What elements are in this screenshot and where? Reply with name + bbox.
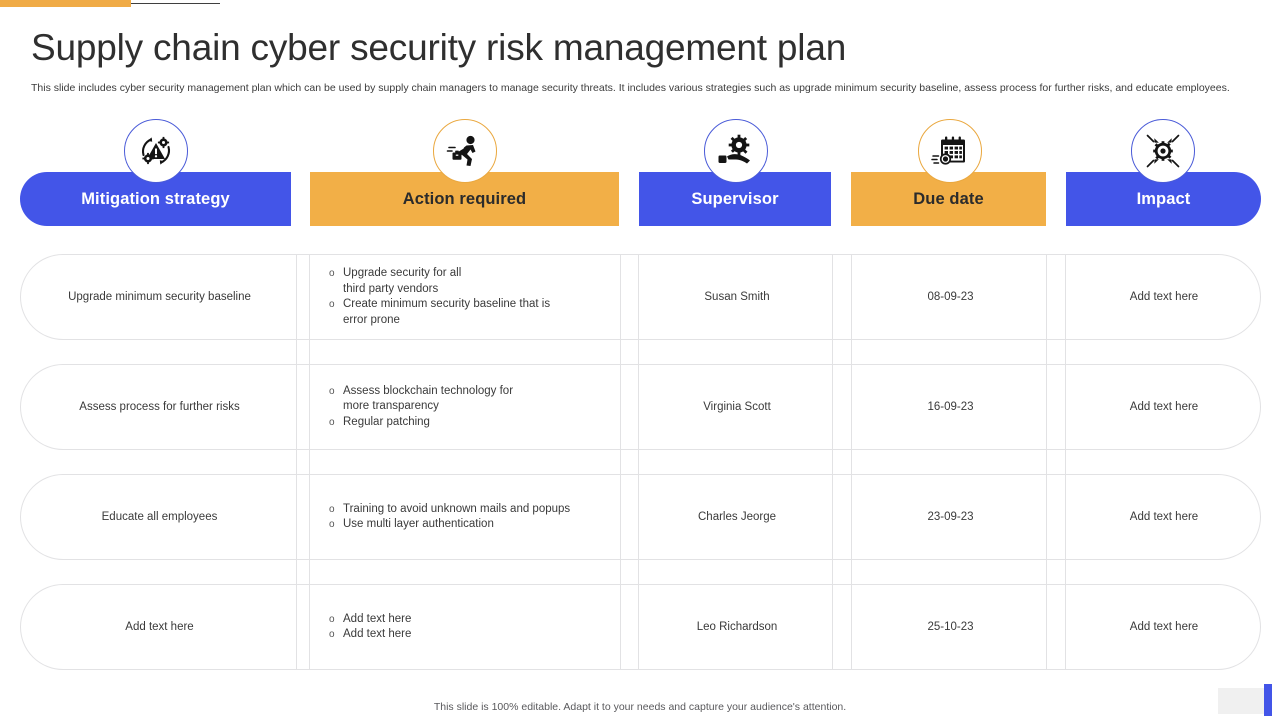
list-item: o Assess blockchain technology for more … [329,384,513,415]
table-header-row: Mitigation strategy Action required Supe… [20,172,1261,226]
column-separator [620,254,621,670]
cell-supervisor: Susan Smith [641,255,833,339]
top-accent-line [131,3,220,4]
cell-impact: Add text here [1068,475,1260,559]
cell-due-date: 08-09-23 [853,255,1048,339]
bullet-marker: o [329,627,343,643]
cell-mitigation-strategy: Educate all employees [22,475,297,559]
column-separator [1046,254,1047,670]
bullet-marker: o [329,517,343,533]
running-person-briefcase-icon [433,119,497,183]
cell-supervisor: Leo Richardson [641,585,833,669]
bullet-marker: o [329,612,343,628]
list-item: o Use multi layer authentication [329,517,494,533]
cell-mitigation-strategy: Upgrade minimum security baseline [22,255,297,339]
cell-supervisor: Virginia Scott [641,365,833,449]
list-item: o Add text here [329,612,411,628]
cell-impact: Add text here [1068,255,1260,339]
column-header-label: Action required [403,190,526,209]
column-separator [309,254,310,670]
cell-action-required: o Upgrade security for all third party v… [311,255,621,339]
cell-action-required: o Training to avoid unknown mails and po… [311,475,631,559]
gear-target-arrows-icon [1131,119,1195,183]
column-header-label: Mitigation strategy [81,190,230,209]
bullet-marker: o [329,297,343,313]
cell-due-date: 25-10-23 [853,585,1048,669]
column-separator [1065,254,1066,670]
cell-due-date: 16-09-23 [853,365,1048,449]
cell-action-required: o Add text here o Add text here [311,585,621,669]
list-item: o Add text here [329,627,411,643]
footer-accent-bar [1264,684,1272,716]
bullet-marker: o [329,502,343,518]
table-row[interactable]: Educate all employees o Training to avoi… [20,474,1261,560]
table-row[interactable]: Add text here o Add text here o Add text… [20,584,1261,670]
column-separator [638,254,639,670]
page-title: Supply chain cyber security risk managem… [31,27,846,69]
cell-supervisor: Charles Jeorge [641,475,833,559]
cell-impact: Add text here [1068,365,1260,449]
table-row[interactable]: Upgrade minimum security baseline o Upgr… [20,254,1261,340]
footer-plate [1218,688,1270,714]
top-accent-orange-bar [0,0,131,7]
table-body: Upgrade minimum security baseline o Upgr… [20,254,1261,670]
page-subtitle: This slide includes cyber security manag… [31,81,1241,95]
footer-note: This slide is 100% editable. Adapt it to… [0,701,1280,713]
column-separator [296,254,297,670]
hand-holding-gear-icon [704,119,768,183]
list-item: o Upgrade security for all third party v… [329,266,461,297]
risk-gears-warning-icon [124,119,188,183]
cell-action-required: o Assess blockchain technology for more … [311,365,621,449]
list-item: o Create minimum security baseline that … [329,297,550,328]
column-separator [851,254,852,670]
cell-mitigation-strategy: Assess process for further risks [22,365,297,449]
list-item: o Training to avoid unknown mails and po… [329,502,570,518]
bullet-marker: o [329,384,343,400]
calendar-clock-icon [918,119,982,183]
table-row[interactable]: Assess process for further risks o Asses… [20,364,1261,450]
list-item: o Regular patching [329,415,430,431]
cell-impact: Add text here [1068,585,1260,669]
cell-due-date: 23-09-23 [853,475,1048,559]
cell-mitigation-strategy: Add text here [22,585,297,669]
column-separator [832,254,833,670]
column-header-label: Due date [913,190,983,209]
column-header-label: Supervisor [691,190,778,209]
bullet-marker: o [329,415,343,431]
column-header-label: Impact [1137,190,1191,209]
bullet-marker: o [329,266,343,282]
